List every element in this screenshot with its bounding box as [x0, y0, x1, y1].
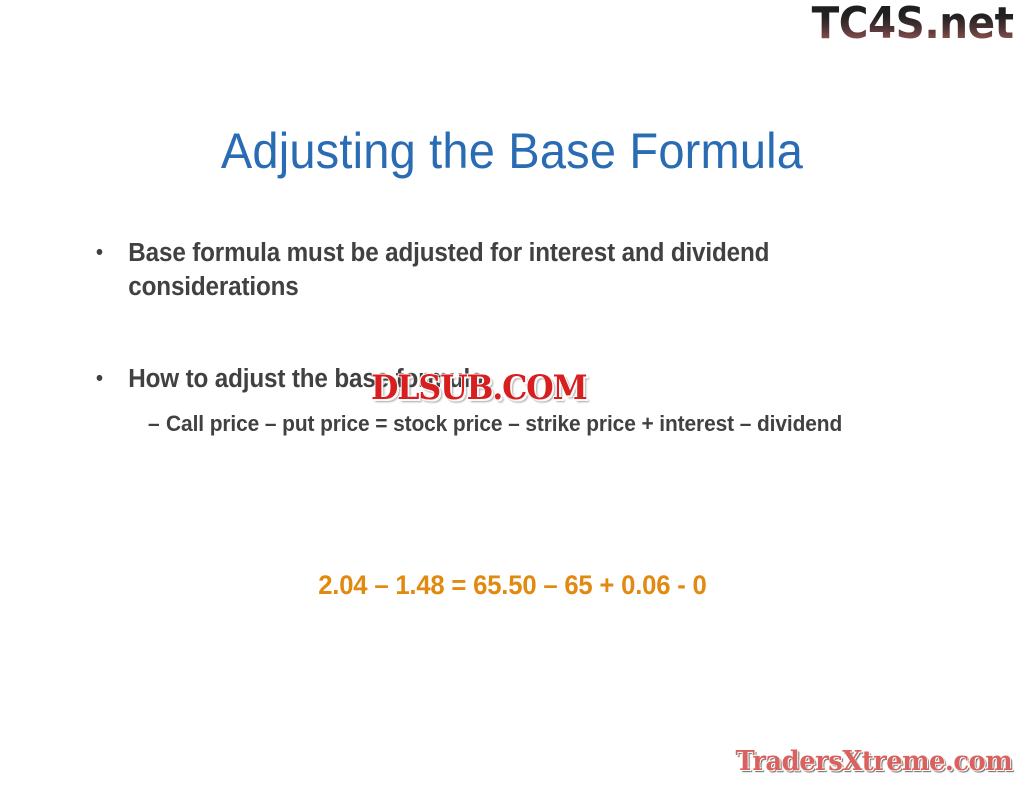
tc4s-brand-logo: TC4S.net [812, 2, 1014, 46]
slide-body: • Base formula must be adjusted for inte… [96, 236, 956, 439]
formula-equation: 2.04 – 1.48 = 65.50 – 65 + 0.06 - 0 [0, 568, 1024, 602]
dlsub-watermark: DLSUB.COM [371, 368, 586, 408]
presentation-slide: TC4S.net Adjusting the Base Formula • Ba… [0, 0, 1024, 791]
bullet-marker-icon: • [96, 362, 128, 396]
bullet-item-1: • Base formula must be adjusted for inte… [96, 236, 913, 304]
sub-bullet-item-1-text: Call price – put price = stock price – s… [166, 408, 883, 439]
dash-marker-icon: – [148, 408, 166, 439]
bullet-marker-icon: • [96, 236, 128, 270]
tradersxtreme-footer-logo: TradersXtreme.com [735, 745, 1012, 779]
bullet-spacer [96, 304, 956, 362]
bullet-item-1-text: Base formula must be adjusted for intere… [128, 236, 804, 304]
page-title: Adjusting the Base Formula [31, 122, 994, 180]
sub-bullet-item-1: – Call price – put price = stock price –… [148, 408, 916, 439]
formula-equation-text: 2.04 – 1.48 = 65.50 – 65 + 0.06 - 0 [318, 568, 706, 602]
